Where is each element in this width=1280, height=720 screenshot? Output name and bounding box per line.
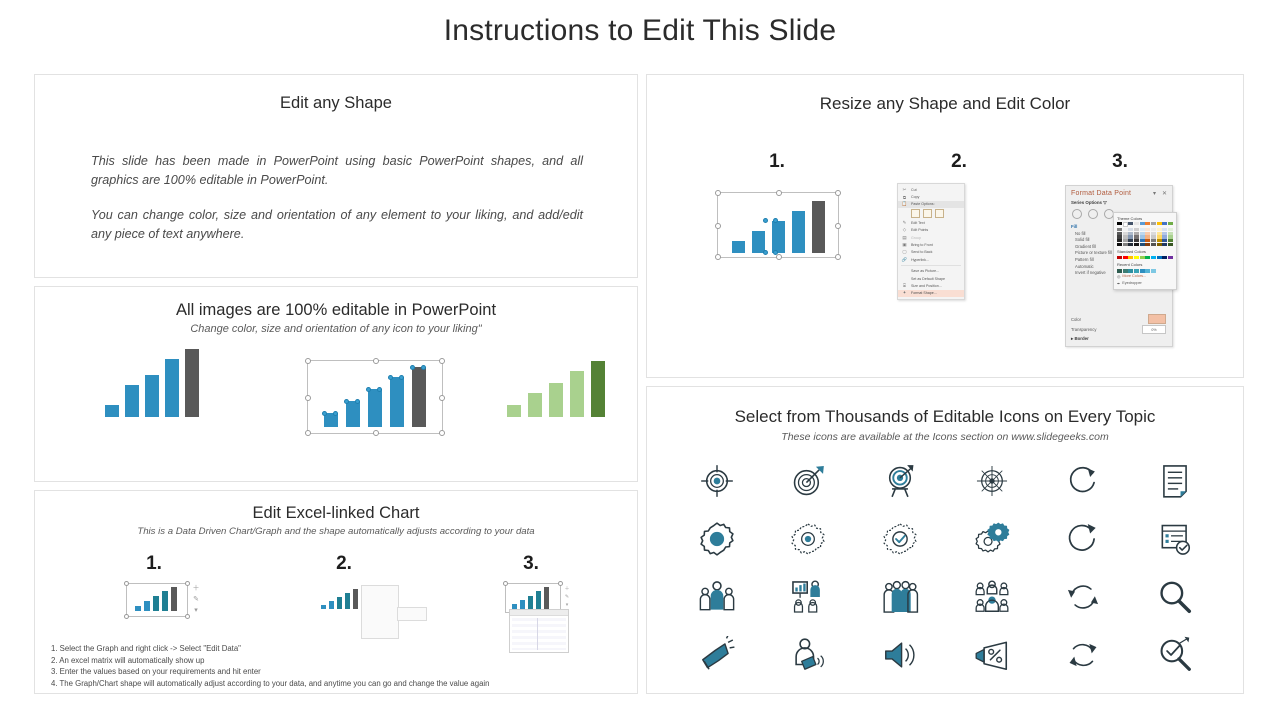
- panel-edit-shape-title: Edit any Shape: [35, 94, 637, 113]
- icon-cell[interactable]: [1038, 459, 1130, 503]
- bar-1: [321, 605, 326, 609]
- size-position-icon: ⌸: [901, 283, 908, 288]
- context-menu-item-edit-text[interactable]: ✎ Edit Text: [898, 219, 964, 226]
- icon-cell[interactable]: [1129, 575, 1221, 619]
- collapse-icon[interactable]: ▾: [1153, 190, 1156, 197]
- bar-handle-7[interactable]: [388, 375, 393, 380]
- swatch[interactable]: [1168, 269, 1173, 272]
- swatch[interactable]: [1145, 228, 1150, 231]
- recent-colors-label: Recent Colors: [1117, 261, 1173, 268]
- edit-shape-paragraph-1: This slide has been made in PowerPoint u…: [91, 152, 583, 190]
- chevron-down-icon[interactable]: ▽: [1103, 200, 1106, 205]
- swatch[interactable]: [1157, 239, 1162, 242]
- context-menu-label: Edit Points: [911, 228, 928, 232]
- swatch[interactable]: [1123, 232, 1128, 235]
- panel-all-images-editable: All images are 100% editable in PowerPoi…: [34, 286, 638, 482]
- theme-colors-row-2[interactable]: [1117, 228, 1173, 231]
- icon-cell[interactable]: [946, 575, 1038, 619]
- swatch[interactable]: [1157, 243, 1162, 246]
- circular-arrows-icon: [1064, 636, 1102, 674]
- icon-cell[interactable]: [763, 575, 855, 619]
- swatch[interactable]: [1117, 222, 1122, 225]
- context-menu-label: Cut: [911, 188, 917, 192]
- bar-handle-2[interactable]: [333, 411, 338, 416]
- bar-5: [544, 587, 549, 609]
- swatch[interactable]: [1151, 228, 1156, 231]
- color-swatch-button[interactable]: [1148, 314, 1166, 324]
- resize-handle-tc[interactable]: [776, 190, 782, 196]
- panel-images-subtitle: Change color, size and orientation of an…: [35, 323, 637, 335]
- resize-handle-bl[interactable]: [715, 254, 721, 260]
- swatch[interactable]: [1145, 222, 1150, 225]
- edit-points-icon: ◇: [901, 227, 908, 233]
- context-menu-label: Paste Options:: [911, 202, 935, 206]
- swatch[interactable]: [1151, 232, 1156, 235]
- excel-thumb-3-bars: [512, 587, 549, 609]
- bar-3: [549, 383, 563, 417]
- scissors-icon: ✂: [901, 187, 908, 193]
- gears-pair-icon: [973, 520, 1011, 558]
- swatch[interactable]: [1117, 243, 1122, 246]
- crosshair-target-icon: [698, 462, 736, 500]
- shape-context-menu[interactable]: ✂ Cut ⧉ Copy 📋 Paste Options: ✎ Edit Tex…: [897, 183, 965, 300]
- swatch[interactable]: [1117, 269, 1122, 272]
- chart-bars-blue-selected: [324, 367, 426, 427]
- resize-handle-tl[interactable]: [124, 581, 129, 586]
- theme-colors-row-1[interactable]: [1117, 222, 1173, 227]
- swatch[interactable]: [1128, 232, 1133, 235]
- bar-4: [570, 371, 584, 417]
- magnifier-target-icon: [1156, 636, 1194, 674]
- swatch[interactable]: [1151, 269, 1156, 272]
- people-group-icon: [698, 578, 736, 616]
- bar-5: [171, 587, 177, 611]
- bar-3: [337, 597, 342, 609]
- recent-colors-row[interactable]: [1117, 269, 1173, 272]
- meeting-group-icon: [973, 578, 1011, 616]
- border-section-label[interactable]: ▸ Border: [1071, 336, 1089, 342]
- swatch[interactable]: [1140, 222, 1145, 225]
- checklist-document-icon: [1156, 462, 1194, 500]
- excel-thumb-2: [317, 583, 427, 639]
- swatch[interactable]: [1162, 235, 1167, 238]
- bar-handle-6[interactable]: [377, 387, 382, 392]
- context-menu-label: Save as Picture...: [911, 269, 939, 273]
- bar-5: [412, 367, 426, 427]
- icon-cell[interactable]: [1038, 517, 1130, 561]
- swatch[interactable]: [1151, 256, 1156, 259]
- excel-step-number-2: 2.: [314, 553, 374, 575]
- swatch[interactable]: [1151, 243, 1156, 246]
- theme-colors-row-3[interactable]: [1117, 232, 1173, 235]
- excel-thumb-1-bars: [135, 587, 177, 611]
- palette-icon: ◎: [1117, 274, 1120, 279]
- effects-tab-icon[interactable]: [1088, 209, 1098, 219]
- swatch[interactable]: [1162, 269, 1167, 272]
- swatch[interactable]: [1151, 222, 1156, 225]
- swatch[interactable]: [1123, 235, 1128, 238]
- icon-cell[interactable]: [854, 459, 946, 503]
- context-menu-item-bring-to-front[interactable]: ▣ Bring to Front: [898, 241, 964, 248]
- panel-icons-subtitle: These icons are available at the Icons s…: [647, 431, 1243, 443]
- swatch[interactable]: [1145, 239, 1150, 242]
- excel-thumb-2-context-menu[interactable]: [361, 585, 399, 639]
- swatch[interactable]: [1128, 222, 1133, 225]
- swatch[interactable]: [1140, 232, 1145, 235]
- panel-excel-subtitle: This is a Data Driven Chart/Graph and th…: [35, 526, 637, 537]
- resize-handle-tc[interactable]: [373, 358, 379, 364]
- icon-cell[interactable]: [763, 459, 855, 503]
- swatch[interactable]: [1128, 243, 1133, 246]
- panel-icons-title: Select from Thousands of Editable Icons …: [647, 407, 1243, 427]
- context-menu-label: Hyperlink...: [911, 258, 929, 262]
- bar-handle-2[interactable]: [773, 218, 778, 223]
- swatch[interactable]: [1162, 222, 1167, 225]
- icon-cell[interactable]: [1038, 575, 1130, 619]
- bar-5: [591, 361, 605, 417]
- transparency-input[interactable]: 0%: [1142, 325, 1166, 334]
- reload-circle-icon: [1064, 520, 1102, 558]
- swatch[interactable]: [1117, 235, 1122, 238]
- swatch[interactable]: [1140, 235, 1145, 238]
- icon-cell[interactable]: [854, 633, 946, 677]
- eyedropper-icon: ✒: [1117, 281, 1120, 286]
- swatch[interactable]: [1134, 269, 1139, 272]
- context-menu-item-group: ▤ Group: [898, 234, 964, 241]
- swatch[interactable]: [1168, 239, 1173, 242]
- swatch[interactable]: [1145, 256, 1150, 259]
- swatch[interactable]: [1162, 228, 1167, 231]
- sync-arrows-icon: [1064, 578, 1102, 616]
- swatch[interactable]: [1134, 222, 1139, 225]
- excel-instruction-2: 2. An excel matrix will automatically sh…: [51, 655, 623, 667]
- magnifier-icon: [1156, 578, 1194, 616]
- icon-cell[interactable]: [1129, 459, 1221, 503]
- swatch[interactable]: [1134, 239, 1139, 242]
- bar-2: [528, 393, 542, 417]
- resize-handle-ml[interactable]: [715, 223, 721, 229]
- swatch[interactable]: [1123, 239, 1128, 242]
- resize-handle-bc[interactable]: [373, 430, 379, 436]
- gear-check-icon: [881, 520, 919, 558]
- resize-handle-ml[interactable]: [305, 395, 311, 401]
- excel-thumb-3: ＋✎▾: [505, 583, 571, 651]
- swatch[interactable]: [1168, 256, 1173, 259]
- bar-handle-9[interactable]: [410, 365, 415, 370]
- bar-2: [329, 601, 334, 609]
- bar-1: [507, 405, 521, 417]
- swatch[interactable]: [1145, 269, 1150, 272]
- swatch[interactable]: [1134, 256, 1139, 259]
- bar-3: [772, 221, 785, 253]
- paste-option-buttons[interactable]: [898, 208, 964, 219]
- context-menu-label: Bring to Front: [911, 243, 933, 247]
- icon-grid: [671, 459, 1221, 677]
- bar-handle-10[interactable]: [421, 365, 426, 370]
- swatch[interactable]: [1123, 269, 1128, 272]
- icon-cell[interactable]: [763, 517, 855, 561]
- swatch[interactable]: [1134, 232, 1139, 235]
- swatch[interactable]: [1117, 239, 1122, 242]
- panel-resize-title: Resize any Shape and Edit Color: [647, 94, 1243, 114]
- bar-3: [153, 596, 159, 611]
- icon-cell[interactable]: [1129, 517, 1221, 561]
- slide-canvas: Instructions to Edit This Slide Edit any…: [0, 0, 1280, 720]
- context-menu-item-edit-points[interactable]: ◇ Edit Points: [898, 227, 964, 234]
- swatch[interactable]: [1168, 232, 1173, 235]
- bar-2: [520, 600, 525, 609]
- fill-line-tab-icon[interactable]: [1072, 209, 1082, 219]
- swatch[interactable]: [1140, 256, 1145, 259]
- excel-thumb-2-submenu[interactable]: [397, 607, 427, 621]
- resize-handle-br[interactable]: [185, 614, 190, 619]
- swatch[interactable]: [1168, 228, 1173, 231]
- edit-text-icon: ✎: [901, 220, 908, 226]
- standard-colors-row[interactable]: [1117, 256, 1173, 259]
- theme-colors-row-5[interactable]: [1117, 239, 1173, 242]
- swatch[interactable]: [1140, 243, 1145, 246]
- format-data-point-pane[interactable]: Format Data Point ▾ ✕ Series Options ▽ F…: [1065, 185, 1173, 347]
- swatch[interactable]: [1123, 243, 1128, 246]
- bar-5: [353, 589, 358, 609]
- resize-chart-bars: [732, 201, 825, 253]
- swatch[interactable]: [1128, 256, 1133, 259]
- swatch[interactable]: [1157, 256, 1162, 259]
- context-menu-item-copy[interactable]: ⧉ Copy: [898, 193, 964, 200]
- swatch[interactable]: [1117, 256, 1122, 259]
- paste-icon: 📋: [901, 201, 908, 207]
- bar-4: [536, 591, 541, 609]
- resize-handle-bl[interactable]: [124, 614, 129, 619]
- bar-1: [135, 606, 141, 611]
- speaker-announce-icon: [881, 636, 919, 674]
- scope-crosshair-icon: [973, 462, 1011, 500]
- swatch[interactable]: [1151, 239, 1156, 242]
- gear-dotted-icon: [789, 520, 827, 558]
- panel-resize-shape-edit-color: Resize any Shape and Edit Color 1. 2. 3.: [646, 74, 1244, 378]
- icon-cell[interactable]: [946, 459, 1038, 503]
- context-menu-item-send-to-back[interactable]: ▢ Send to Back: [898, 249, 964, 256]
- swatch[interactable]: [1128, 269, 1133, 272]
- icon-cell[interactable]: [671, 575, 763, 619]
- megaphone-icon: [698, 636, 736, 674]
- checklist-approved-icon: [1156, 520, 1194, 558]
- resize-handle-tr[interactable]: [439, 358, 445, 364]
- swatch[interactable]: [1123, 228, 1128, 231]
- context-menu-item-paste-options[interactable]: 📋 Paste Options:: [898, 201, 964, 208]
- icon-cell[interactable]: [671, 517, 763, 561]
- resize-step-number-1: 1.: [747, 151, 807, 173]
- bar-4: [345, 593, 350, 609]
- swatch[interactable]: [1145, 243, 1150, 246]
- panel-editable-icons: Select from Thousands of Editable Icons …: [646, 386, 1244, 694]
- bar-3: [528, 596, 533, 609]
- excel-step-number-3: 3.: [501, 553, 561, 575]
- resize-handle-tr[interactable]: [185, 581, 190, 586]
- swatch[interactable]: [1140, 239, 1145, 242]
- swatch[interactable]: [1168, 222, 1173, 225]
- context-menu-item-set-as-default-shape[interactable]: Set as Default Shape: [898, 275, 964, 282]
- swatch[interactable]: [1123, 256, 1128, 259]
- resize-handle-br[interactable]: [835, 254, 841, 260]
- swatch[interactable]: [1157, 228, 1162, 231]
- excel-instruction-list: 1. Select the Graph and right click -> S…: [51, 643, 623, 689]
- icon-cell[interactable]: [671, 633, 763, 677]
- paste-keep-source-formatting-icon[interactable]: [911, 209, 920, 218]
- excel-thumb-2-bars: [321, 589, 358, 609]
- dartboard-arrow-icon: [789, 462, 827, 500]
- bar-handle-5[interactable]: [366, 387, 371, 392]
- format-pane-title: Format Data Point: [1066, 186, 1172, 197]
- resize-step-number-2: 2.: [929, 151, 989, 173]
- context-menu-item-save-as-picture[interactable]: Save as Picture...: [898, 268, 964, 275]
- bar-1: [105, 405, 119, 417]
- context-menu-label: Format Shape...: [911, 291, 937, 295]
- chart-selection-frame[interactable]: [307, 360, 443, 434]
- swatch[interactable]: [1134, 228, 1139, 231]
- context-menu-label: Copy: [911, 195, 919, 199]
- panel-images-charts: [35, 349, 639, 477]
- context-menu-item-cut[interactable]: ✂ Cut: [898, 186, 964, 193]
- bar-4: [792, 211, 805, 253]
- resize-handle-bl[interactable]: [305, 430, 311, 436]
- excel-thumb-1-selection[interactable]: [126, 583, 188, 617]
- resize-handle-tl[interactable]: [503, 581, 508, 586]
- panel-images-title: All images are 100% editable in PowerPoi…: [35, 301, 637, 320]
- swatch[interactable]: [1157, 269, 1162, 272]
- eyedropper-menu-item[interactable]: ✒ Eyedropper: [1117, 280, 1173, 287]
- color-picker-popup[interactable]: Theme Colors Stan: [1113, 212, 1177, 290]
- swatch[interactable]: [1162, 232, 1167, 235]
- chart-bars-green: [507, 361, 605, 417]
- swatch[interactable]: [1162, 243, 1167, 246]
- group-icon: ▤: [901, 235, 908, 241]
- paste-keep-text-only-icon[interactable]: [935, 209, 944, 218]
- resize-handle-br[interactable]: [439, 430, 445, 436]
- swatch[interactable]: [1123, 222, 1128, 227]
- refresh-arrow-icon: [1064, 462, 1102, 500]
- swatch[interactable]: [1157, 232, 1162, 235]
- bar-4: [165, 359, 179, 417]
- icon-cell[interactable]: [946, 633, 1038, 677]
- bar-handle-1[interactable]: [322, 411, 327, 416]
- bar-2: [346, 401, 360, 427]
- person-megaphone-icon: [789, 636, 827, 674]
- swatch[interactable]: [1117, 232, 1122, 235]
- swatch[interactable]: [1151, 235, 1156, 238]
- copy-icon: ⧉: [901, 195, 908, 200]
- swatch[interactable]: [1117, 228, 1122, 231]
- swatch[interactable]: [1162, 239, 1167, 242]
- swatch[interactable]: [1134, 243, 1139, 246]
- bring-front-icon: ▣: [901, 242, 908, 248]
- excel-instruction-4: 4. The Graph/Chart shape will automatica…: [51, 678, 623, 690]
- icon-cell[interactable]: [1038, 633, 1130, 677]
- theme-colors-row-4[interactable]: [1117, 235, 1173, 238]
- page-title: Instructions to Edit This Slide: [0, 14, 1280, 48]
- icon-cell[interactable]: [763, 633, 855, 677]
- chart-bars-blue-plain: [105, 349, 199, 417]
- context-menu-separator-1: [901, 265, 961, 266]
- send-back-icon: ▢: [901, 249, 908, 255]
- bar-5: [812, 201, 825, 253]
- standard-colors-label: Standard Colors: [1117, 248, 1173, 255]
- context-menu-item-hyperlink[interactable]: 🔗 Hyperlink...: [898, 256, 964, 263]
- resize-step-number-3: 3.: [1090, 151, 1150, 173]
- bar-3: [368, 389, 382, 427]
- context-menu-label: Send to Back: [911, 250, 932, 254]
- excel-thumb-3-side-tools[interactable]: ＋✎▾: [563, 585, 571, 609]
- icon-cell[interactable]: [946, 517, 1038, 561]
- resize-handle-tl[interactable]: [715, 190, 721, 196]
- swatch[interactable]: [1128, 235, 1133, 238]
- color-row-label: Color: [1071, 317, 1081, 322]
- swatch[interactable]: [1128, 239, 1133, 242]
- bar-handle-8[interactable]: [399, 375, 404, 380]
- theme-colors-row-6[interactable]: [1117, 243, 1173, 246]
- resize-handle-tl[interactable]: [305, 358, 311, 364]
- context-menu-label: Edit Text: [911, 221, 925, 225]
- more-colors-menu-item[interactable]: ◎ More Colors...: [1117, 273, 1173, 280]
- context-menu-label: Group: [911, 236, 921, 240]
- bar-2: [144, 601, 150, 611]
- series-options-label[interactable]: Series Options ▽: [1066, 197, 1172, 206]
- icon-cell[interactable]: [1129, 633, 1221, 677]
- close-icon[interactable]: ✕: [1162, 190, 1167, 197]
- bar-handle-1[interactable]: [763, 218, 768, 223]
- bar-handle-4[interactable]: [773, 250, 778, 255]
- context-menu-item-size-and-position[interactable]: ⌸ Size and Position...: [898, 282, 964, 289]
- resize-chart-selection[interactable]: [717, 192, 839, 258]
- bar-handle-3[interactable]: [344, 399, 349, 404]
- swatch[interactable]: [1140, 269, 1145, 272]
- hyperlink-icon: 🔗: [901, 257, 908, 263]
- excel-step-number-1: 1.: [124, 553, 184, 575]
- swatch[interactable]: [1140, 228, 1145, 231]
- swatch[interactable]: [1168, 243, 1173, 246]
- excel-instruction-1: 1. Select the Graph and right click -> S…: [51, 643, 623, 655]
- swatch[interactable]: [1145, 235, 1150, 238]
- resize-handle-bc[interactable]: [776, 254, 782, 260]
- swatch[interactable]: [1145, 232, 1150, 235]
- excel-thumb-1-side-tools[interactable]: ＋✎▾: [191, 583, 201, 617]
- swatch[interactable]: [1162, 256, 1167, 259]
- swatch[interactable]: [1157, 235, 1162, 238]
- resize-handle-mr[interactable]: [835, 223, 841, 229]
- context-menu-label: Set as Default Shape: [911, 277, 945, 281]
- panel-edit-any-shape: Edit any Shape This slide has been made …: [34, 74, 638, 278]
- icon-cell[interactable]: [671, 459, 763, 503]
- bar-handle-3[interactable]: [763, 250, 768, 255]
- edit-shape-paragraph-2: You can change color, size and orientati…: [91, 206, 583, 244]
- swatch[interactable]: [1134, 235, 1139, 238]
- paste-picture-icon[interactable]: [923, 209, 932, 218]
- resize-handle-mr[interactable]: [439, 395, 445, 401]
- swatch[interactable]: [1168, 235, 1173, 238]
- excel-instruction-3: 3. Enter the values based on your requir…: [51, 666, 623, 678]
- resize-handle-tr[interactable]: [835, 190, 841, 196]
- panel-edit-excel-linked-chart: Edit Excel-linked Chart This is a Data D…: [34, 490, 638, 694]
- swatch[interactable]: [1128, 228, 1133, 231]
- transparency-row-label: Transparency: [1071, 327, 1096, 332]
- context-menu-item-format-shape[interactable]: ✦ Format Shape...: [898, 290, 964, 297]
- icon-cell[interactable]: [854, 575, 946, 619]
- context-menu-label: Size and Position...: [911, 284, 942, 288]
- swatch[interactable]: [1157, 222, 1162, 225]
- bar-1: [732, 241, 745, 253]
- icon-cell[interactable]: [854, 517, 946, 561]
- bar-handle-4[interactable]: [355, 399, 360, 404]
